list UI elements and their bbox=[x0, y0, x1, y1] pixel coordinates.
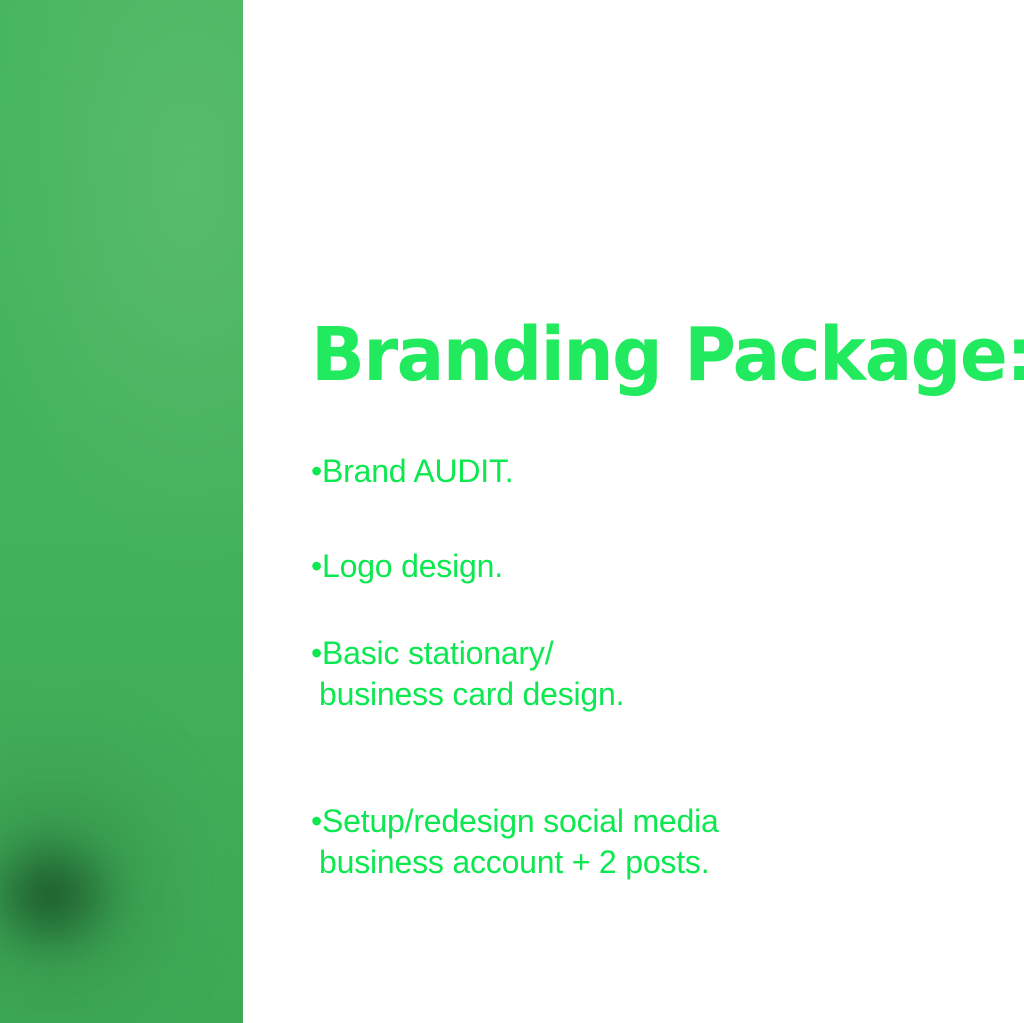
list-item-text-wrapped: business card design. bbox=[311, 674, 911, 715]
list-item: •Logo design. bbox=[311, 505, 911, 587]
list-item: •Basic stationary/ business card design. bbox=[311, 592, 911, 756]
bullet-marker-icon: • bbox=[311, 635, 322, 671]
page-title: Branding Package: bbox=[311, 318, 1024, 392]
list-item: •Setup/redesign social media business ac… bbox=[311, 760, 911, 924]
list-item-text: Brand AUDIT. bbox=[322, 453, 513, 489]
list-item-text: Basic stationary/ bbox=[322, 635, 553, 671]
list-item-text: Logo design. bbox=[322, 548, 503, 584]
list-item: •Brand AUDIT. bbox=[311, 410, 911, 492]
sidebar-dark-blob bbox=[0, 790, 166, 1000]
bullet-marker-icon: • bbox=[311, 453, 322, 489]
list-item-text-wrapped: business account + 2 posts. bbox=[311, 842, 911, 883]
slide-canvas: Branding Package: •Brand AUDIT. •Logo de… bbox=[0, 0, 1024, 1023]
sidebar-green-panel bbox=[0, 0, 243, 1023]
services-bullet-list: •Brand AUDIT. •Logo design. •Basic stati… bbox=[311, 410, 911, 924]
list-item-text: Setup/redesign social media bbox=[322, 803, 719, 839]
bullet-marker-icon: • bbox=[311, 803, 322, 839]
bullet-marker-icon: • bbox=[311, 548, 322, 584]
content-area: Branding Package: •Brand AUDIT. •Logo de… bbox=[243, 0, 1024, 1023]
